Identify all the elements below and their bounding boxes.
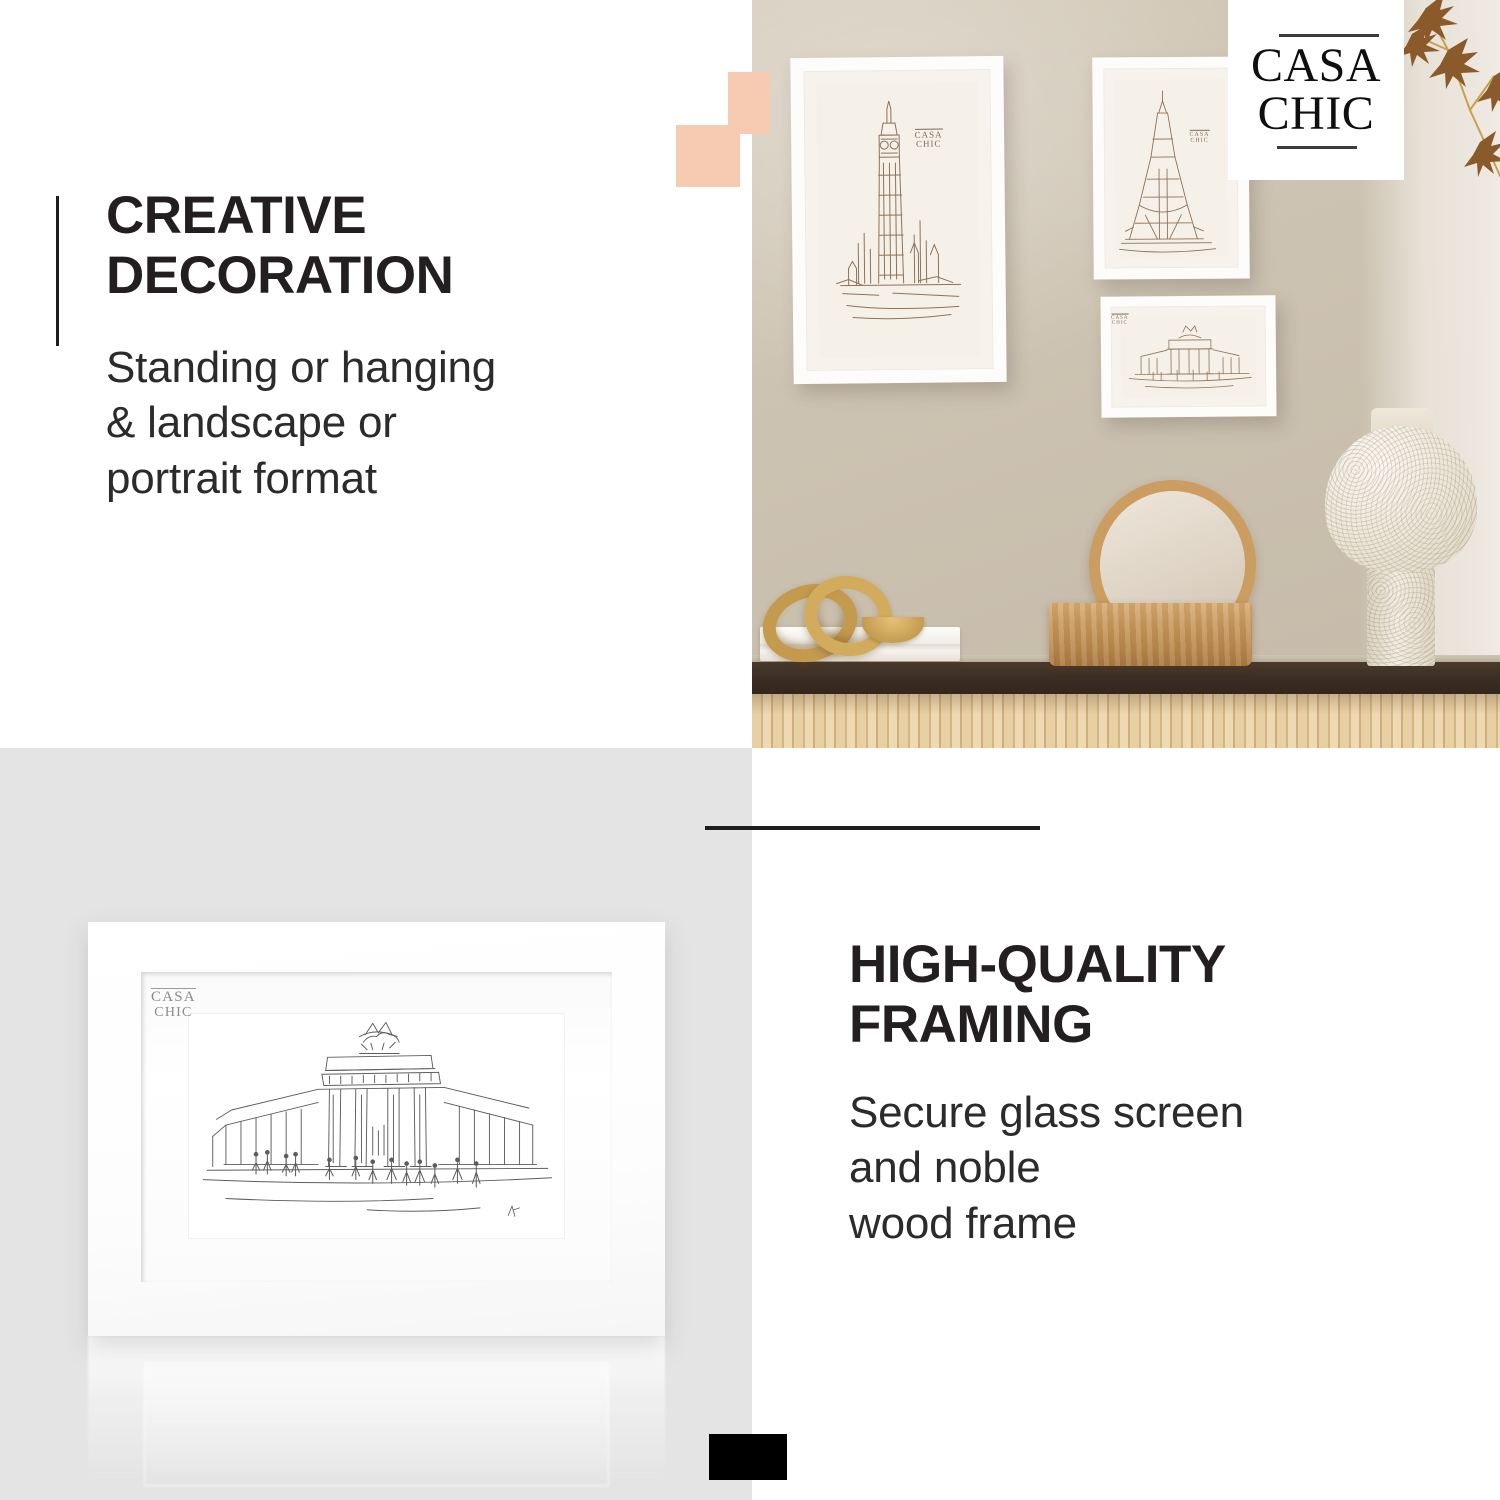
sideboard-shadow — [752, 694, 1500, 748]
print-logo-line-2: CHIC — [915, 139, 943, 148]
product-print-logo: CASA CHIC — [151, 988, 196, 1021]
print-logo-brandenburg: CASA CHIC — [1111, 313, 1128, 325]
brand-logo: CASA CHIC — [1228, 0, 1404, 180]
print-logo-line-2: CHIC — [1190, 138, 1210, 144]
top-left-subcopy: Standing or hanging & landscape or portr… — [106, 340, 706, 506]
panel-creative-decoration: CREATIVE DECORATION Standing or hanging … — [0, 0, 752, 748]
product-frame-artwork — [189, 1014, 564, 1238]
product-picture-frame: CASA CHIC — [88, 922, 665, 1336]
peach-accent-square-small — [728, 72, 770, 134]
headline-line-2: FRAMING — [849, 995, 1449, 1055]
infographic-canvas: CREATIVE DECORATION Standing or hanging … — [0, 0, 1500, 1500]
bottom-right-text-block: HIGH-QUALITY FRAMING Secure glass screen… — [849, 935, 1449, 1251]
brand-logo-text: CASA CHIC — [1251, 43, 1381, 136]
page-title: CREATIVE DECORATION — [106, 186, 706, 306]
big-ben-sketch-icon — [817, 82, 981, 358]
headline-line-1: CREATIVE — [106, 186, 366, 245]
section-title: HIGH-QUALITY FRAMING — [849, 935, 1449, 1055]
ceramic-vase-decor — [1325, 426, 1477, 666]
vase-stem — [1367, 558, 1435, 666]
brand-logo-line-1: CASA — [1251, 43, 1381, 89]
print-logo-line-2: CHIC — [151, 1006, 196, 1021]
frame-artwork-brandenburg-gate — [1121, 315, 1257, 397]
wall-frame-big-ben: CASA CHIC — [790, 56, 1006, 384]
subcopy-line-1: Secure glass screen — [849, 1085, 1449, 1140]
wall-frame-eiffel-tower: CASA CHIC — [1092, 56, 1250, 279]
subcopy-line-2: and noble — [849, 1140, 1449, 1195]
frame-artwork-big-ben — [817, 82, 981, 358]
frame-reflection — [88, 1336, 665, 1486]
print-logo-big-ben: CASA CHIC — [915, 128, 943, 148]
print-logo-line-1: CASA — [151, 988, 196, 1006]
print-logo-line-1: CASA — [1189, 130, 1209, 138]
top-left-text-block: CREATIVE DECORATION Standing or hanging … — [106, 186, 706, 506]
accent-vertical-rule — [56, 196, 59, 346]
subcopy-line-3: portrait format — [106, 451, 706, 506]
subcopy-line-1: Standing or hanging — [106, 340, 706, 395]
print-logo-eiffel: CASA CHIC — [1189, 130, 1209, 144]
subcopy-line-3: wood frame — [849, 1196, 1449, 1251]
wall-frame-brandenburg-gate: CASA CHIC — [1100, 295, 1276, 418]
headline-line-1: HIGH-QUALITY — [849, 935, 1226, 994]
vase-bulb — [1325, 426, 1477, 572]
brand-logo-line-2: CHIC — [1251, 91, 1381, 137]
brandenburg-gate-print-icon — [189, 1014, 564, 1238]
accent-horizontal-rule — [705, 826, 1040, 830]
eiffel-tower-sketch-icon — [1114, 79, 1227, 258]
peach-accent-square-large — [676, 125, 740, 187]
headline-line-2: DECORATION — [106, 246, 706, 306]
bottom-right-subcopy: Secure glass screen and noble wood frame — [849, 1085, 1449, 1251]
sideboard-body — [752, 662, 1500, 694]
logo-rule-bottom-icon — [1277, 146, 1357, 149]
logo-rule-top-icon — [1279, 34, 1379, 37]
black-accent-rectangle — [709, 1434, 787, 1480]
subcopy-line-2: & landscape or — [106, 395, 706, 450]
brandenburg-gate-sketch-icon — [1121, 315, 1257, 397]
product-frame-mat: CASA CHIC — [141, 972, 612, 1282]
wooden-oval-box — [1049, 603, 1252, 666]
frame-artwork-eiffel-tower — [1114, 79, 1227, 258]
print-logo-line-2: CHIC — [1111, 320, 1128, 325]
